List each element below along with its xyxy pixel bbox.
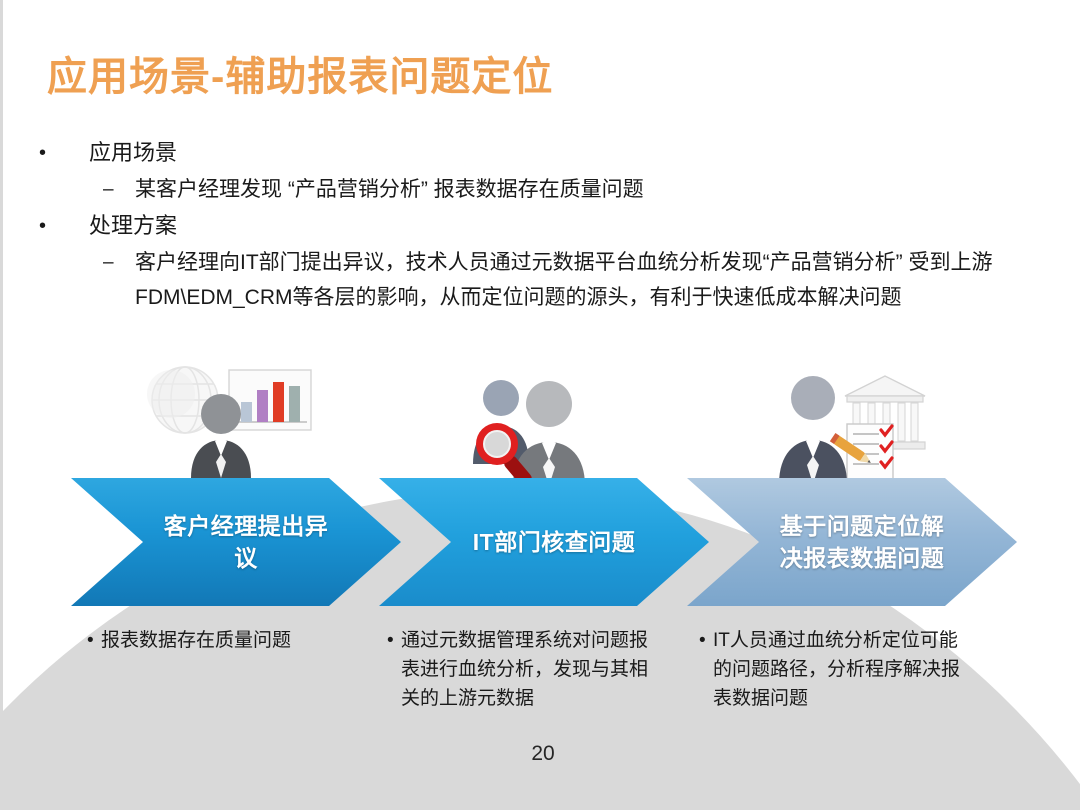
outline-subitem-1-1: – 某客户经理发现 “产品营销分析” 报表数据存在质量问题 — [103, 172, 1049, 207]
two-people-magnifier-icon — [451, 368, 641, 486]
process-step-2-caption-text: 通过元数据管理系统对问题报表进行血统分析，发现与其相关的上游元数据 — [401, 626, 659, 713]
page-title: 应用场景-辅助报表问题定位 — [47, 44, 553, 102]
businessman-checklist-bank-icon — [767, 366, 957, 484]
caption-bullet: • — [87, 626, 101, 655]
process-step-1-caption: • 报表数据存在质量问题 — [71, 626, 401, 655]
process-step-3-caption: • IT人员通过血统分析定位可能的问题路径，分析程序解决报表数据问题 — [687, 626, 967, 713]
outline-subitem-2-1: – 客户经理向IT部门提出异议，技术人员通过元数据平台血统分析发现“产品营销分析… — [103, 245, 1049, 315]
chevron-line-1: 基于问题定位解 — [780, 513, 945, 539]
decorative-bottom-strip — [3, 796, 1080, 810]
process-flow: 客户经理提出异 议 • 报表数据存在质量问题 — [3, 360, 1080, 720]
caption-bullet: • — [387, 626, 401, 713]
bullet-marker: • — [39, 209, 89, 243]
slide-canvas: 应用场景-辅助报表问题定位 • 应用场景 – 某客户经理发现 “产品营销分析” … — [0, 0, 1080, 810]
process-step-2: IT部门核查问题 • 通过元数据管理系统对问题报表进行血统分析，发现与其相关的上… — [379, 360, 709, 720]
chevron-line-1: IT部门核查问题 — [473, 529, 635, 555]
process-step-1-caption-text: 报表数据存在质量问题 — [101, 626, 401, 655]
process-step-2-icon-area — [379, 360, 709, 478]
outline-subitem-2-1-label: 客户经理向IT部门提出异议，技术人员通过元数据平台血统分析发现“产品营销分析” … — [135, 245, 1049, 315]
chevron-line-2: 决报表数据问题 — [780, 545, 945, 571]
dash-marker: – — [103, 172, 135, 207]
outline-item-2-label: 处理方案 — [89, 209, 177, 243]
bullet-marker: • — [39, 136, 89, 170]
process-step-3-caption-text: IT人员通过血统分析定位可能的问题路径，分析程序解决报表数据问题 — [713, 626, 967, 713]
outline-item-1: • 应用场景 — [39, 136, 1049, 170]
outline-item-2: • 处理方案 — [39, 209, 1049, 243]
process-step-3-chevron[interactable]: 基于问题定位解 决报表数据问题 — [687, 478, 1017, 606]
businessman-globe-chart-icon — [137, 360, 327, 478]
process-step-3: 基于问题定位解 决报表数据问题 • IT人员通过血统分析定位可能的问题路径，分析… — [687, 360, 1017, 720]
process-step-2-caption: • 通过元数据管理系统对问题报表进行血统分析，发现与其相关的上游元数据 — [379, 626, 659, 713]
process-step-2-chevron[interactable]: IT部门核查问题 — [379, 478, 709, 606]
chevron-line-1: 客户经理提出异 — [164, 513, 329, 539]
process-step-3-chevron-label: 基于问题定位解 决报表数据问题 — [742, 510, 963, 574]
process-step-1-chevron-label: 客户经理提出异 议 — [126, 510, 347, 574]
outline-item-1-label: 应用场景 — [89, 136, 177, 170]
process-step-1-chevron[interactable]: 客户经理提出异 议 — [71, 478, 401, 606]
page-number: 20 — [3, 742, 1080, 766]
dash-marker: – — [103, 245, 135, 280]
process-step-2-chevron-label: IT部门核查问题 — [435, 526, 653, 558]
process-step-1: 客户经理提出异 议 • 报表数据存在质量问题 — [71, 360, 401, 720]
outline-subitem-1-1-label: 某客户经理发现 “产品营销分析” 报表数据存在质量问题 — [135, 172, 1049, 207]
process-step-3-icon-area — [687, 360, 1017, 478]
process-step-1-icon-area — [71, 360, 401, 478]
chevron-line-2: 议 — [234, 545, 258, 571]
outline-body: • 应用场景 – 某客户经理发现 “产品营销分析” 报表数据存在质量问题 • 处… — [39, 136, 1049, 317]
caption-bullet: • — [699, 626, 713, 713]
